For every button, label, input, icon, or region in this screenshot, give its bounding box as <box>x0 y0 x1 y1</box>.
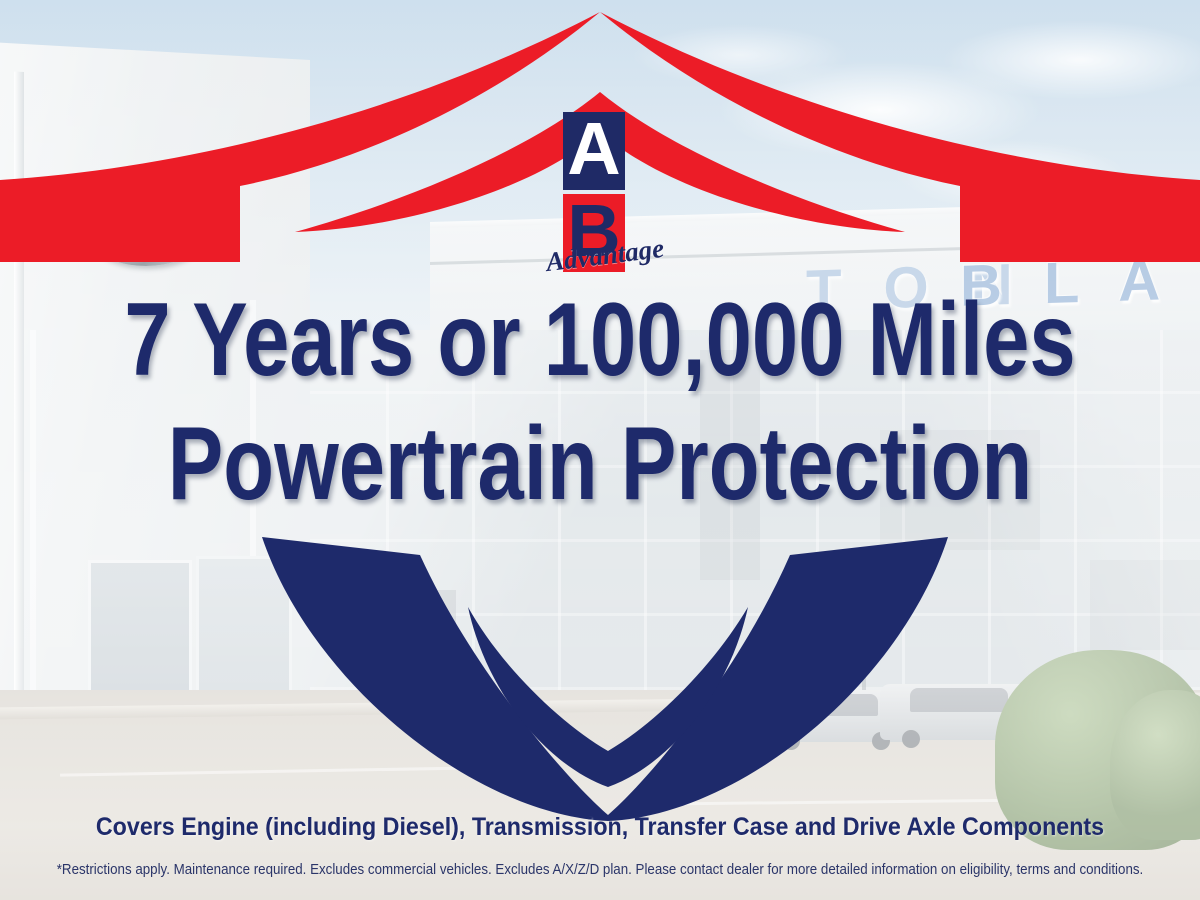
logo-letter-a: A <box>567 120 620 178</box>
headline-line-2: Powertrain Protection <box>120 412 1080 516</box>
coverage-tagline: Covers Engine (including Diesel), Transm… <box>42 813 1158 842</box>
legal-disclaimer: *Restrictions apply. Maintenance require… <box>48 862 1152 878</box>
ab-advantage-logo: A B Advantage <box>555 112 651 292</box>
logo-letter-a-box: A <box>563 112 625 190</box>
navy-chevron-graphic <box>0 515 1200 825</box>
red-outer-chevron-left <box>0 12 600 262</box>
red-outer-chevron <box>600 12 1200 262</box>
headline-line-1: 7 Years or 100,000 Miles <box>120 288 1080 392</box>
advertisement-banner: T O N B L A Ford A B Advantage 7 Years o… <box>0 0 1200 900</box>
